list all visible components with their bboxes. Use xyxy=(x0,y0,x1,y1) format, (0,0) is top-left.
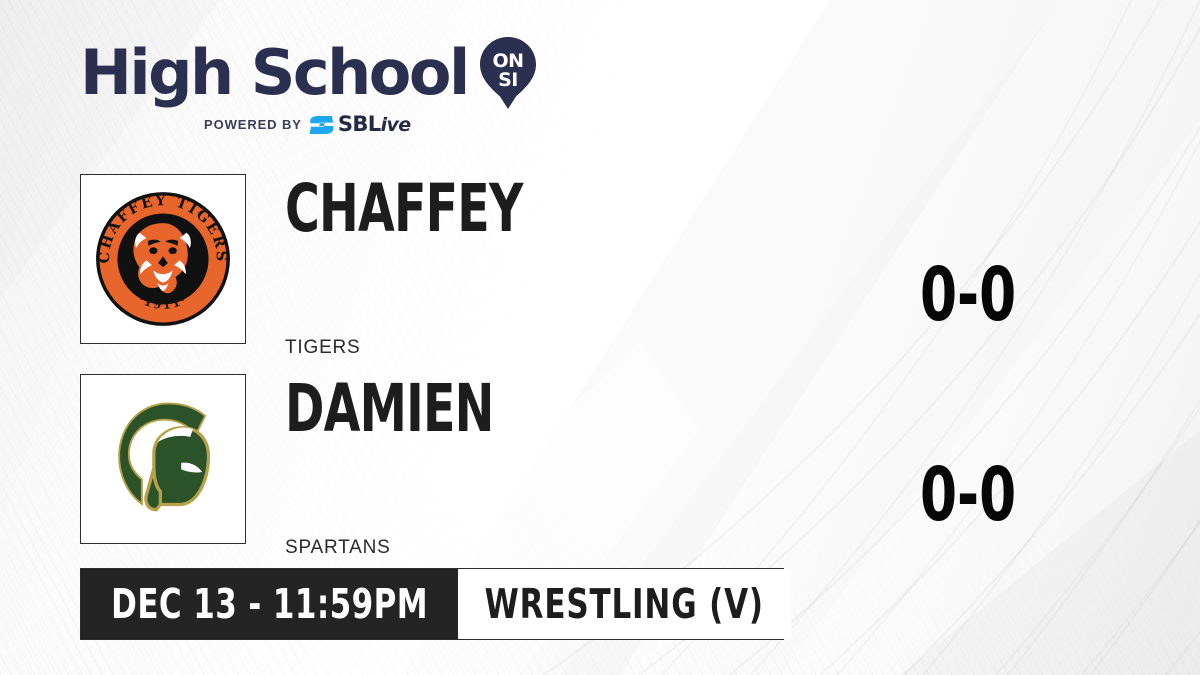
team-logo-box-away xyxy=(80,374,246,544)
sblive-bold: SBL xyxy=(338,112,381,136)
score-away: 0-0 xyxy=(920,458,1016,532)
game-sport-cell: WRESTLING (V) xyxy=(458,569,791,639)
team-logo-box-home: CHAFFEY TIGERS ·1911· xyxy=(80,174,246,344)
team-mascot-away: SPARTANS xyxy=(285,537,391,559)
site-wordmark: High School xyxy=(80,44,468,103)
team-name-home: CHAFFEY xyxy=(285,176,523,242)
game-datetime-cell: DEC 13 - 11:59PM xyxy=(81,569,458,639)
brand-block: High School ON SI POWERED BY SBLive xyxy=(80,36,510,135)
chaffey-tigers-logo-icon: CHAFFEY TIGERS ·1911· xyxy=(94,190,232,328)
game-info-bar: DEC 13 - 11:59PM WRESTLING (V) xyxy=(80,568,784,640)
on-si-pin-icon: ON SI xyxy=(478,36,538,110)
score-home: 0-0 xyxy=(920,258,1016,332)
sblive-wordmark: SBLive xyxy=(338,114,411,135)
powered-by-label: POWERED BY xyxy=(204,117,302,132)
team-mascot-home: TIGERS xyxy=(285,337,361,359)
matchup-graphic: High School ON SI POWERED BY SBLive xyxy=(0,0,1200,675)
game-datetime-text: DEC 13 - 11:59PM xyxy=(111,584,428,625)
brand-row: High School ON SI xyxy=(80,36,510,110)
sblive-logo: SBLive xyxy=(309,114,411,135)
damien-spartans-logo-icon xyxy=(98,394,228,524)
team-name-away: DAMIEN xyxy=(285,376,494,442)
powered-by-row: POWERED BY SBLive xyxy=(204,114,510,135)
game-sport-text: WRESTLING (V) xyxy=(485,584,764,625)
spartan-helmet-mark xyxy=(120,404,208,509)
pin-label-bottom: SI xyxy=(498,69,518,91)
sblive-s-icon xyxy=(309,115,335,135)
sblive-italic: ive xyxy=(381,114,411,136)
